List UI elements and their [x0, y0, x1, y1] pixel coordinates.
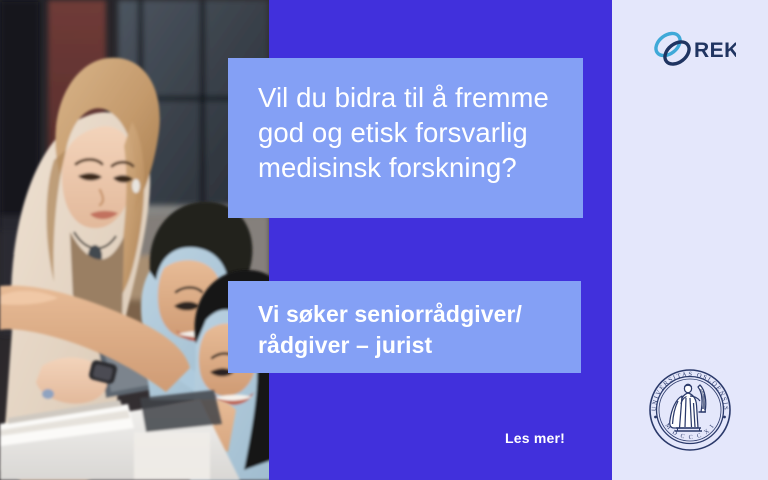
job-title-box: Vi søker seniorrådgiver/ rådgiver – juri…: [228, 281, 581, 373]
job-title-text: Vi søker seniorrådgiver/ rådgiver – juri…: [258, 299, 561, 361]
uio-seal: UNIVERSITAS OSLOENSIS M D C C C X I: [645, 365, 735, 455]
uio-seal-figure: [670, 384, 706, 431]
read-more-link[interactable]: Les mer!: [505, 430, 565, 446]
job-advert-banner: Vil du bidra til å fremme god og etisk f…: [0, 0, 768, 480]
rek-interlocking-ellipses-icon: [652, 29, 694, 69]
headline-box: Vil du bidra til å fremme god og etisk f…: [228, 58, 583, 218]
rek-wordmark: REK: [694, 39, 736, 62]
headline-text: Vil du bidra til å fremme god og etisk f…: [258, 80, 557, 185]
rek-logo[interactable]: REK: [650, 28, 736, 70]
